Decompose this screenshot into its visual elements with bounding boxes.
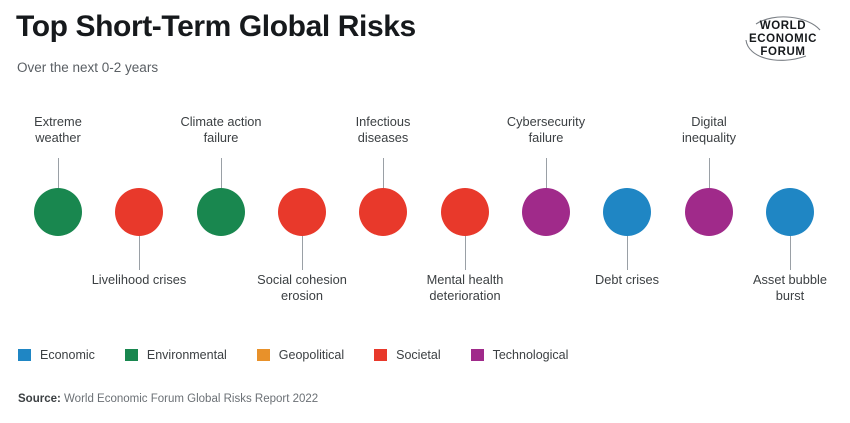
legend-label: Societal bbox=[396, 348, 440, 362]
risk-dot[interactable] bbox=[685, 188, 733, 236]
infographic-root: Top Short-Term Global Risks Over the nex… bbox=[0, 0, 850, 423]
legend-label: Technological bbox=[493, 348, 569, 362]
risk-label: Mental health deterioration bbox=[380, 272, 550, 303]
logo-line-3: FORUM bbox=[760, 46, 805, 58]
risk-label: Digital inequality bbox=[624, 114, 794, 145]
risk-dot[interactable] bbox=[278, 188, 326, 236]
legend-swatch-icon bbox=[374, 349, 387, 361]
world-economic-forum-logo: WORLD ECONOMIC FORUM bbox=[734, 14, 832, 62]
legend-item[interactable]: Economic bbox=[18, 348, 95, 362]
legend-swatch-icon bbox=[125, 349, 138, 361]
risk-dot[interactable] bbox=[522, 188, 570, 236]
risk-dot[interactable] bbox=[441, 188, 489, 236]
risk-dot-plot: Extreme weatherLivelihood crisesClimate … bbox=[0, 100, 850, 320]
legend-item[interactable]: Technological bbox=[471, 348, 569, 362]
legend-swatch-icon bbox=[257, 349, 270, 361]
header: Top Short-Term Global Risks Over the nex… bbox=[0, 0, 850, 100]
source-note: Source: World Economic Forum Global Risk… bbox=[18, 393, 318, 405]
legend-swatch-icon bbox=[18, 349, 31, 361]
risk-dot[interactable] bbox=[603, 188, 651, 236]
risk-label: Livelihood crises bbox=[54, 272, 224, 288]
risk-dot[interactable] bbox=[34, 188, 82, 236]
legend-item[interactable]: Environmental bbox=[125, 348, 227, 362]
legend-label: Geopolitical bbox=[279, 348, 344, 362]
risk-label: Climate action failure bbox=[136, 114, 306, 145]
legend: EconomicEnvironmentalGeopoliticalSocieta… bbox=[18, 348, 598, 362]
risk-label: Social cohesion erosion bbox=[217, 272, 387, 303]
logo-line-1: WORLD bbox=[760, 20, 806, 32]
risk-dot[interactable] bbox=[359, 188, 407, 236]
legend-label: Economic bbox=[40, 348, 95, 362]
risk-dot[interactable] bbox=[197, 188, 245, 236]
source-text: World Economic Forum Global Risks Report… bbox=[64, 393, 318, 405]
page-subtitle: Over the next 0-2 years bbox=[17, 60, 158, 75]
page-title: Top Short-Term Global Risks bbox=[16, 10, 416, 44]
legend-label: Environmental bbox=[147, 348, 227, 362]
logo-line-2: ECONOMIC bbox=[749, 33, 817, 45]
risk-dot[interactable] bbox=[766, 188, 814, 236]
risk-dot[interactable] bbox=[115, 188, 163, 236]
legend-swatch-icon bbox=[471, 349, 484, 361]
legend-item[interactable]: Geopolitical bbox=[257, 348, 344, 362]
risk-label: Cybersecurity failure bbox=[461, 114, 631, 145]
legend-item[interactable]: Societal bbox=[374, 348, 440, 362]
risk-label: Debt crises bbox=[542, 272, 712, 288]
risk-label: Infectious diseases bbox=[298, 114, 468, 145]
risk-label: Extreme weather bbox=[0, 114, 143, 145]
risk-label: Asset bubble burst bbox=[705, 272, 850, 303]
source-label: Source: bbox=[18, 393, 61, 405]
